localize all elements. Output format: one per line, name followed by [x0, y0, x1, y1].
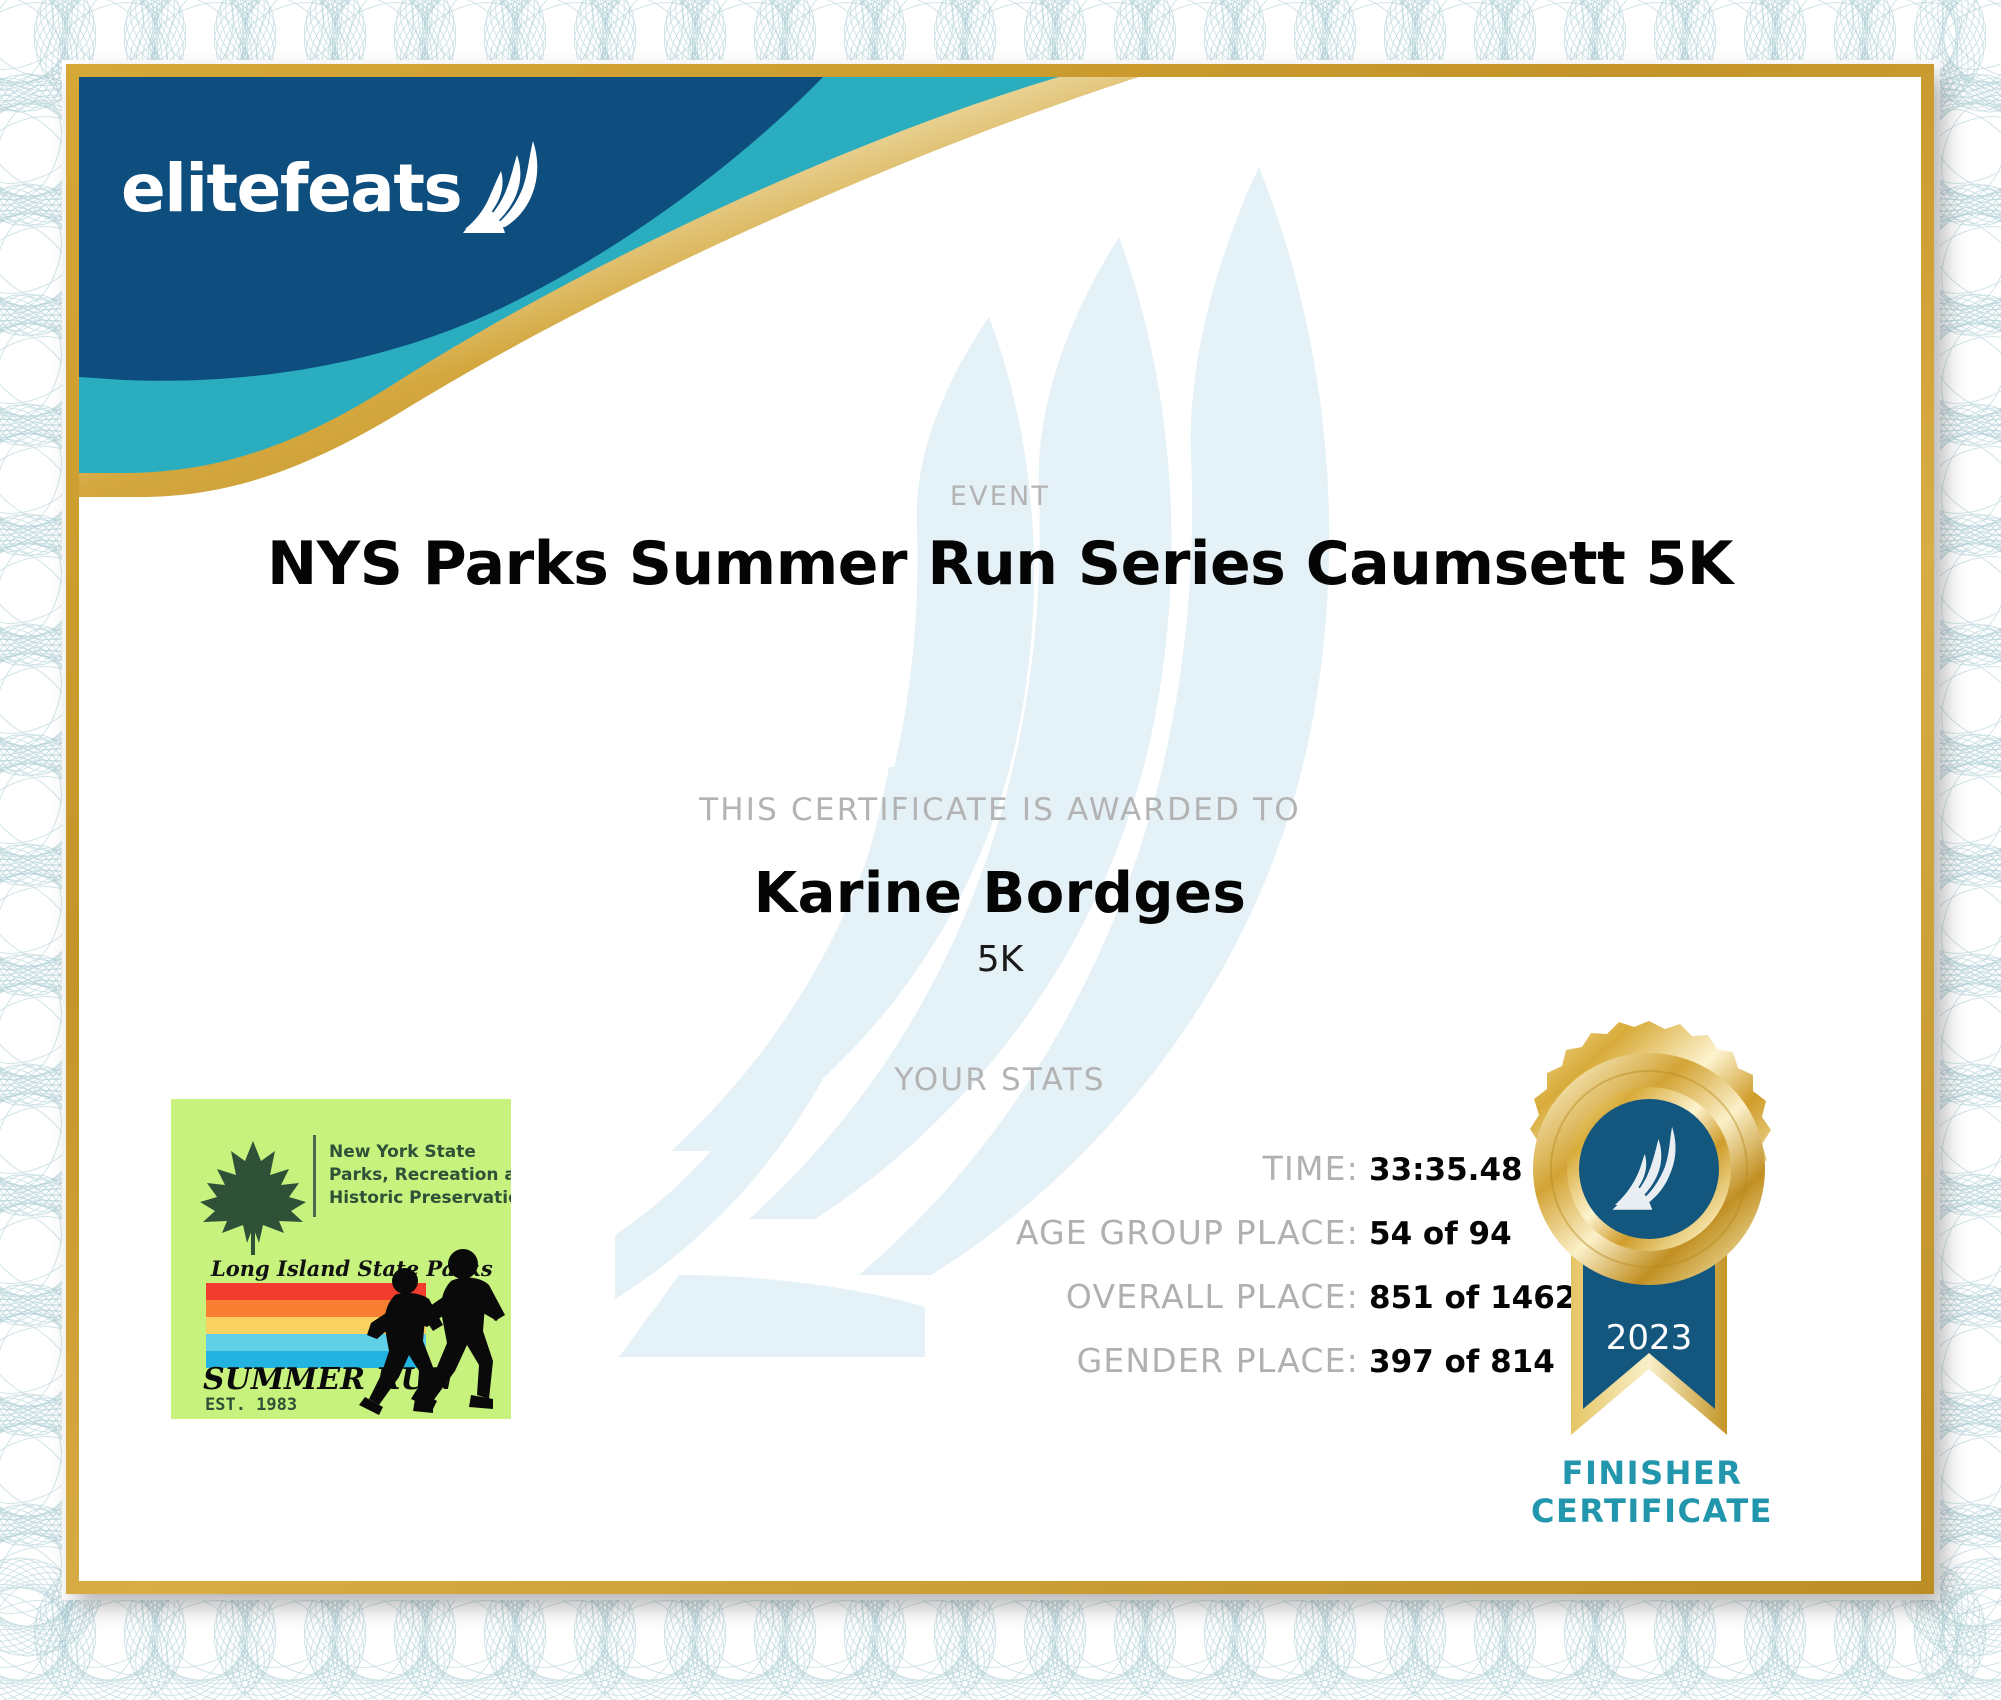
summer-run-park-logo: New York State Parks, Recreation and His… [171, 1099, 511, 1419]
finisher-medal-icon: 2023 [1479, 1017, 1819, 1477]
medal-year: 2023 [1606, 1318, 1693, 1358]
stat-key: OVERALL PLACE: [1066, 1277, 1359, 1316]
stat-key: TIME: [1263, 1149, 1359, 1188]
stat-key: GENDER PLACE: [1077, 1341, 1359, 1380]
finisher-caption-line2: CERTIFICATE [1467, 1493, 1837, 1531]
agency-line1: New York State [329, 1142, 476, 1162]
certificate-gold-frame: elitefeats EVENT NYS Parks Summer Run Se… [66, 64, 1934, 1594]
recipient-name: Karine Bordges [79, 861, 1921, 926]
event-label: EVENT [79, 481, 1921, 512]
certificate-page: elitefeats EVENT NYS Parks Summer Run Se… [0, 0, 2001, 1700]
certificate-body: elitefeats EVENT NYS Parks Summer Run Se… [79, 77, 1921, 1581]
elitefeats-logo: elitefeats [121, 137, 551, 241]
event-title: NYS Parks Summer Run Series Caumsett 5K [79, 529, 1921, 599]
event-name: SUMMER RUN [203, 1362, 456, 1397]
brand-wordmark: elitefeats [121, 156, 461, 222]
stat-key: AGE GROUP PLACE: [1016, 1213, 1359, 1252]
agency-line3: Historic Preservation [329, 1188, 511, 1208]
recipient-distance: 5K [79, 939, 1921, 980]
finisher-certificate-caption: FINISHER CERTIFICATE [1467, 1455, 1837, 1531]
winged-foot-icon [459, 137, 551, 235]
established: EST. 1983 [205, 1395, 297, 1415]
finisher-caption-line1: FINISHER [1467, 1455, 1837, 1493]
awarded-to-label: THIS CERTIFICATE IS AWARDED TO [79, 792, 1921, 828]
agency-line2: Parks, Recreation and [329, 1165, 511, 1185]
